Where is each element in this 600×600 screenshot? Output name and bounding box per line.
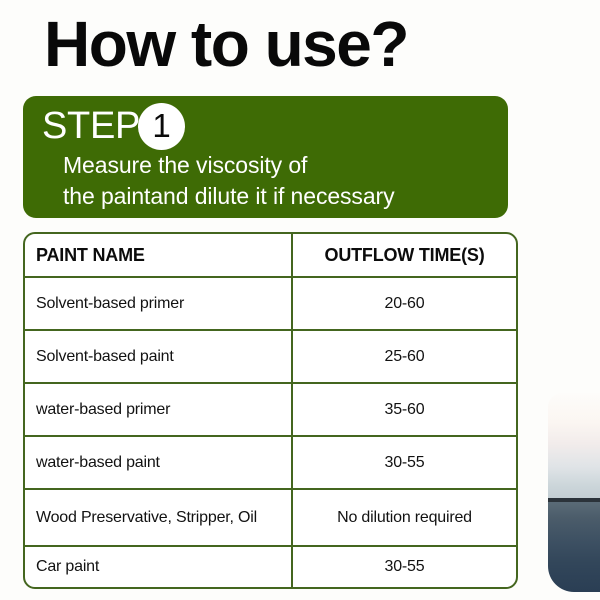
step-label: STEP bbox=[42, 105, 140, 147]
step-number-badge: 1 bbox=[138, 103, 185, 150]
sea-horizon-photo bbox=[548, 393, 600, 592]
table-header-row: PAINT NAME OUTFLOW TIME(S) bbox=[25, 234, 516, 278]
column-header-outflow-time: OUTFLOW TIME(S) bbox=[293, 234, 516, 276]
cell-paint-name: Wood Preservative, Stripper, Oil bbox=[25, 490, 293, 545]
step-description-line-1: Measure the viscosity of bbox=[63, 150, 493, 181]
cell-paint-name: Solvent-based primer bbox=[25, 278, 293, 329]
table-row: water-based paint 30-55 bbox=[25, 437, 516, 490]
cell-outflow-time: 25-60 bbox=[293, 331, 516, 382]
photo-sea bbox=[548, 502, 600, 592]
table-row: water-based primer 35-60 bbox=[25, 384, 516, 437]
step-description-line-2: the paintand dilute it if necessary bbox=[63, 181, 493, 212]
cell-outflow-time: No dilution required bbox=[293, 490, 516, 545]
photo-sky bbox=[548, 393, 600, 498]
poster-canvas: How to use? STEP 1 Measure the viscosity… bbox=[0, 0, 600, 600]
step-description: Measure the viscosity of the paintand di… bbox=[63, 150, 493, 212]
column-header-paint-name: PAINT NAME bbox=[25, 234, 293, 276]
table-row: Solvent-based primer 20-60 bbox=[25, 278, 516, 331]
cell-outflow-time: 30-55 bbox=[293, 437, 516, 488]
cell-paint-name: Solvent-based paint bbox=[25, 331, 293, 382]
cell-paint-name: water-based primer bbox=[25, 384, 293, 435]
cell-outflow-time: 35-60 bbox=[293, 384, 516, 435]
table-row: Wood Preservative, Stripper, Oil No dilu… bbox=[25, 490, 516, 547]
paint-viscosity-table: PAINT NAME OUTFLOW TIME(S) Solvent-based… bbox=[23, 232, 518, 589]
cell-paint-name: water-based paint bbox=[25, 437, 293, 488]
step-heading-row: STEP 1 bbox=[42, 102, 185, 150]
table-row: Car paint 30-55 bbox=[25, 547, 516, 587]
step-banner: STEP 1 Measure the viscosity of the pain… bbox=[23, 96, 508, 218]
page-title: How to use? bbox=[44, 6, 514, 82]
step-number-text: 1 bbox=[152, 109, 170, 142]
cell-paint-name: Car paint bbox=[25, 547, 293, 587]
cell-outflow-time: 20-60 bbox=[293, 278, 516, 329]
cell-outflow-time: 30-55 bbox=[293, 547, 516, 587]
table-row: Solvent-based paint 25-60 bbox=[25, 331, 516, 384]
